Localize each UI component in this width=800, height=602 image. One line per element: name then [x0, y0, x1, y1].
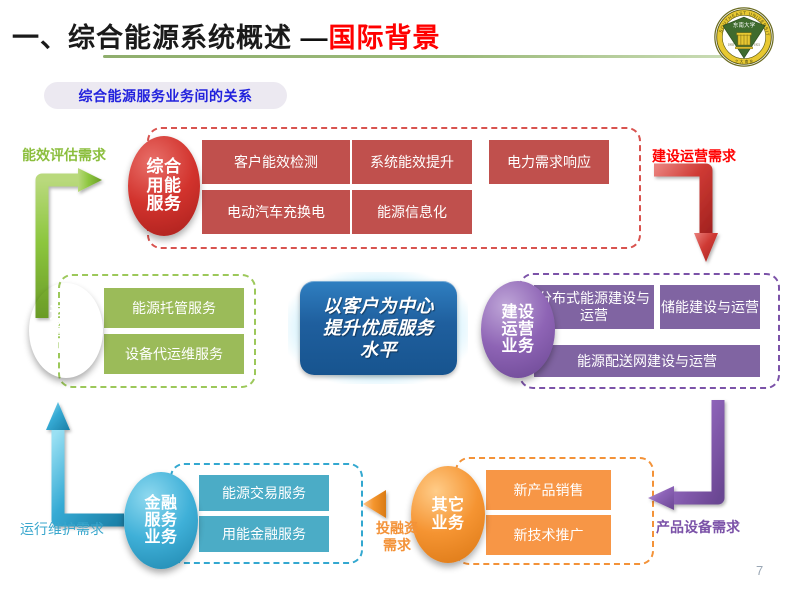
label-investment-financing-demand-line1: 投融资: [366, 520, 428, 537]
tile-construction-operation-2[interactable]: 能源配送网建设与运营: [534, 345, 760, 377]
hub-om-management-line2: 管理: [49, 322, 82, 339]
tile-other-business-0[interactable]: 新产品销售: [486, 470, 611, 510]
tile-comprehensive-energy-0[interactable]: 客户能效检测: [202, 140, 350, 184]
center-callout-line2: 提升优质服务: [323, 317, 434, 339]
hub-financial-service-line1: 金融: [144, 495, 177, 512]
hub-comprehensive-energy[interactable]: 综合 用能 服务: [128, 136, 200, 236]
center-callout: 以客户为中心 提升优质服务 水平: [300, 281, 457, 375]
center-callout-line1: 以客户为中心: [323, 295, 434, 317]
tile-comprehensive-energy-4[interactable]: 能源信息化: [352, 190, 472, 234]
tile-financial-service-0[interactable]: 能源交易服务: [199, 475, 329, 511]
hub-om-management[interactable]: 运维 管理 业务: [29, 283, 103, 378]
hub-om-management-line1: 运维: [49, 305, 82, 322]
label-construction-demand: 建设运营需求: [652, 146, 736, 166]
hub-om-management-line3: 业务: [49, 339, 82, 356]
hub-construction-operation[interactable]: 建设 运营 业务: [481, 281, 555, 378]
slide-canvas: 一、综合能源系统概述 —国际背景 东南大学 之 大 南 东 SOUTHEAST …: [0, 0, 800, 602]
label-investment-financing-demand: 投融资 需求: [366, 520, 428, 554]
arrow-construction-demand: [654, 170, 718, 262]
label-operation-maintenance-demand: 运行维护需求: [20, 519, 104, 539]
hub-other-business-line1: 其它: [431, 497, 464, 514]
hub-comprehensive-energy-line1: 综合: [147, 158, 182, 176]
tile-om-management-1[interactable]: 设备代运维服务: [104, 334, 244, 374]
tile-comprehensive-energy-3[interactable]: 电动汽车充换电: [202, 190, 350, 234]
hub-financial-service-line2: 服务: [144, 512, 177, 529]
tile-other-business-1[interactable]: 新技术推广: [486, 515, 611, 555]
tile-om-management-0[interactable]: 能源托管服务: [104, 288, 244, 328]
tile-financial-service-1[interactable]: 用能金融服务: [199, 516, 329, 552]
hub-construction-operation-line1: 建设: [501, 304, 534, 321]
tile-comprehensive-energy-2[interactable]: 电力需求响应: [489, 140, 609, 184]
tile-comprehensive-energy-1[interactable]: 系统能效提升: [352, 140, 472, 184]
arrow-investment-financing-demand: [363, 490, 412, 518]
arrow-operation-maintenance-demand: [46, 402, 124, 520]
arrow-product-equipment-demand: [648, 400, 718, 510]
hub-construction-operation-line2: 运营: [501, 321, 534, 338]
hub-other-business-line2: 业务: [431, 515, 464, 532]
hub-financial-service-line3: 业务: [144, 529, 177, 546]
label-efficiency-demand: 能效评估需求: [22, 145, 106, 165]
hub-construction-operation-line3: 业务: [501, 338, 534, 355]
tile-construction-operation-1[interactable]: 储能建设与运营: [660, 285, 760, 329]
label-product-equipment-demand: 产品设备需求: [656, 517, 740, 537]
center-callout-line3: 水平: [323, 339, 434, 361]
label-investment-financing-demand-line2: 需求: [366, 537, 428, 554]
hub-comprehensive-energy-line3: 服务: [147, 195, 182, 213]
hub-comprehensive-energy-line2: 用能: [147, 177, 182, 195]
hub-financial-service[interactable]: 金融 服务 业务: [124, 472, 198, 569]
